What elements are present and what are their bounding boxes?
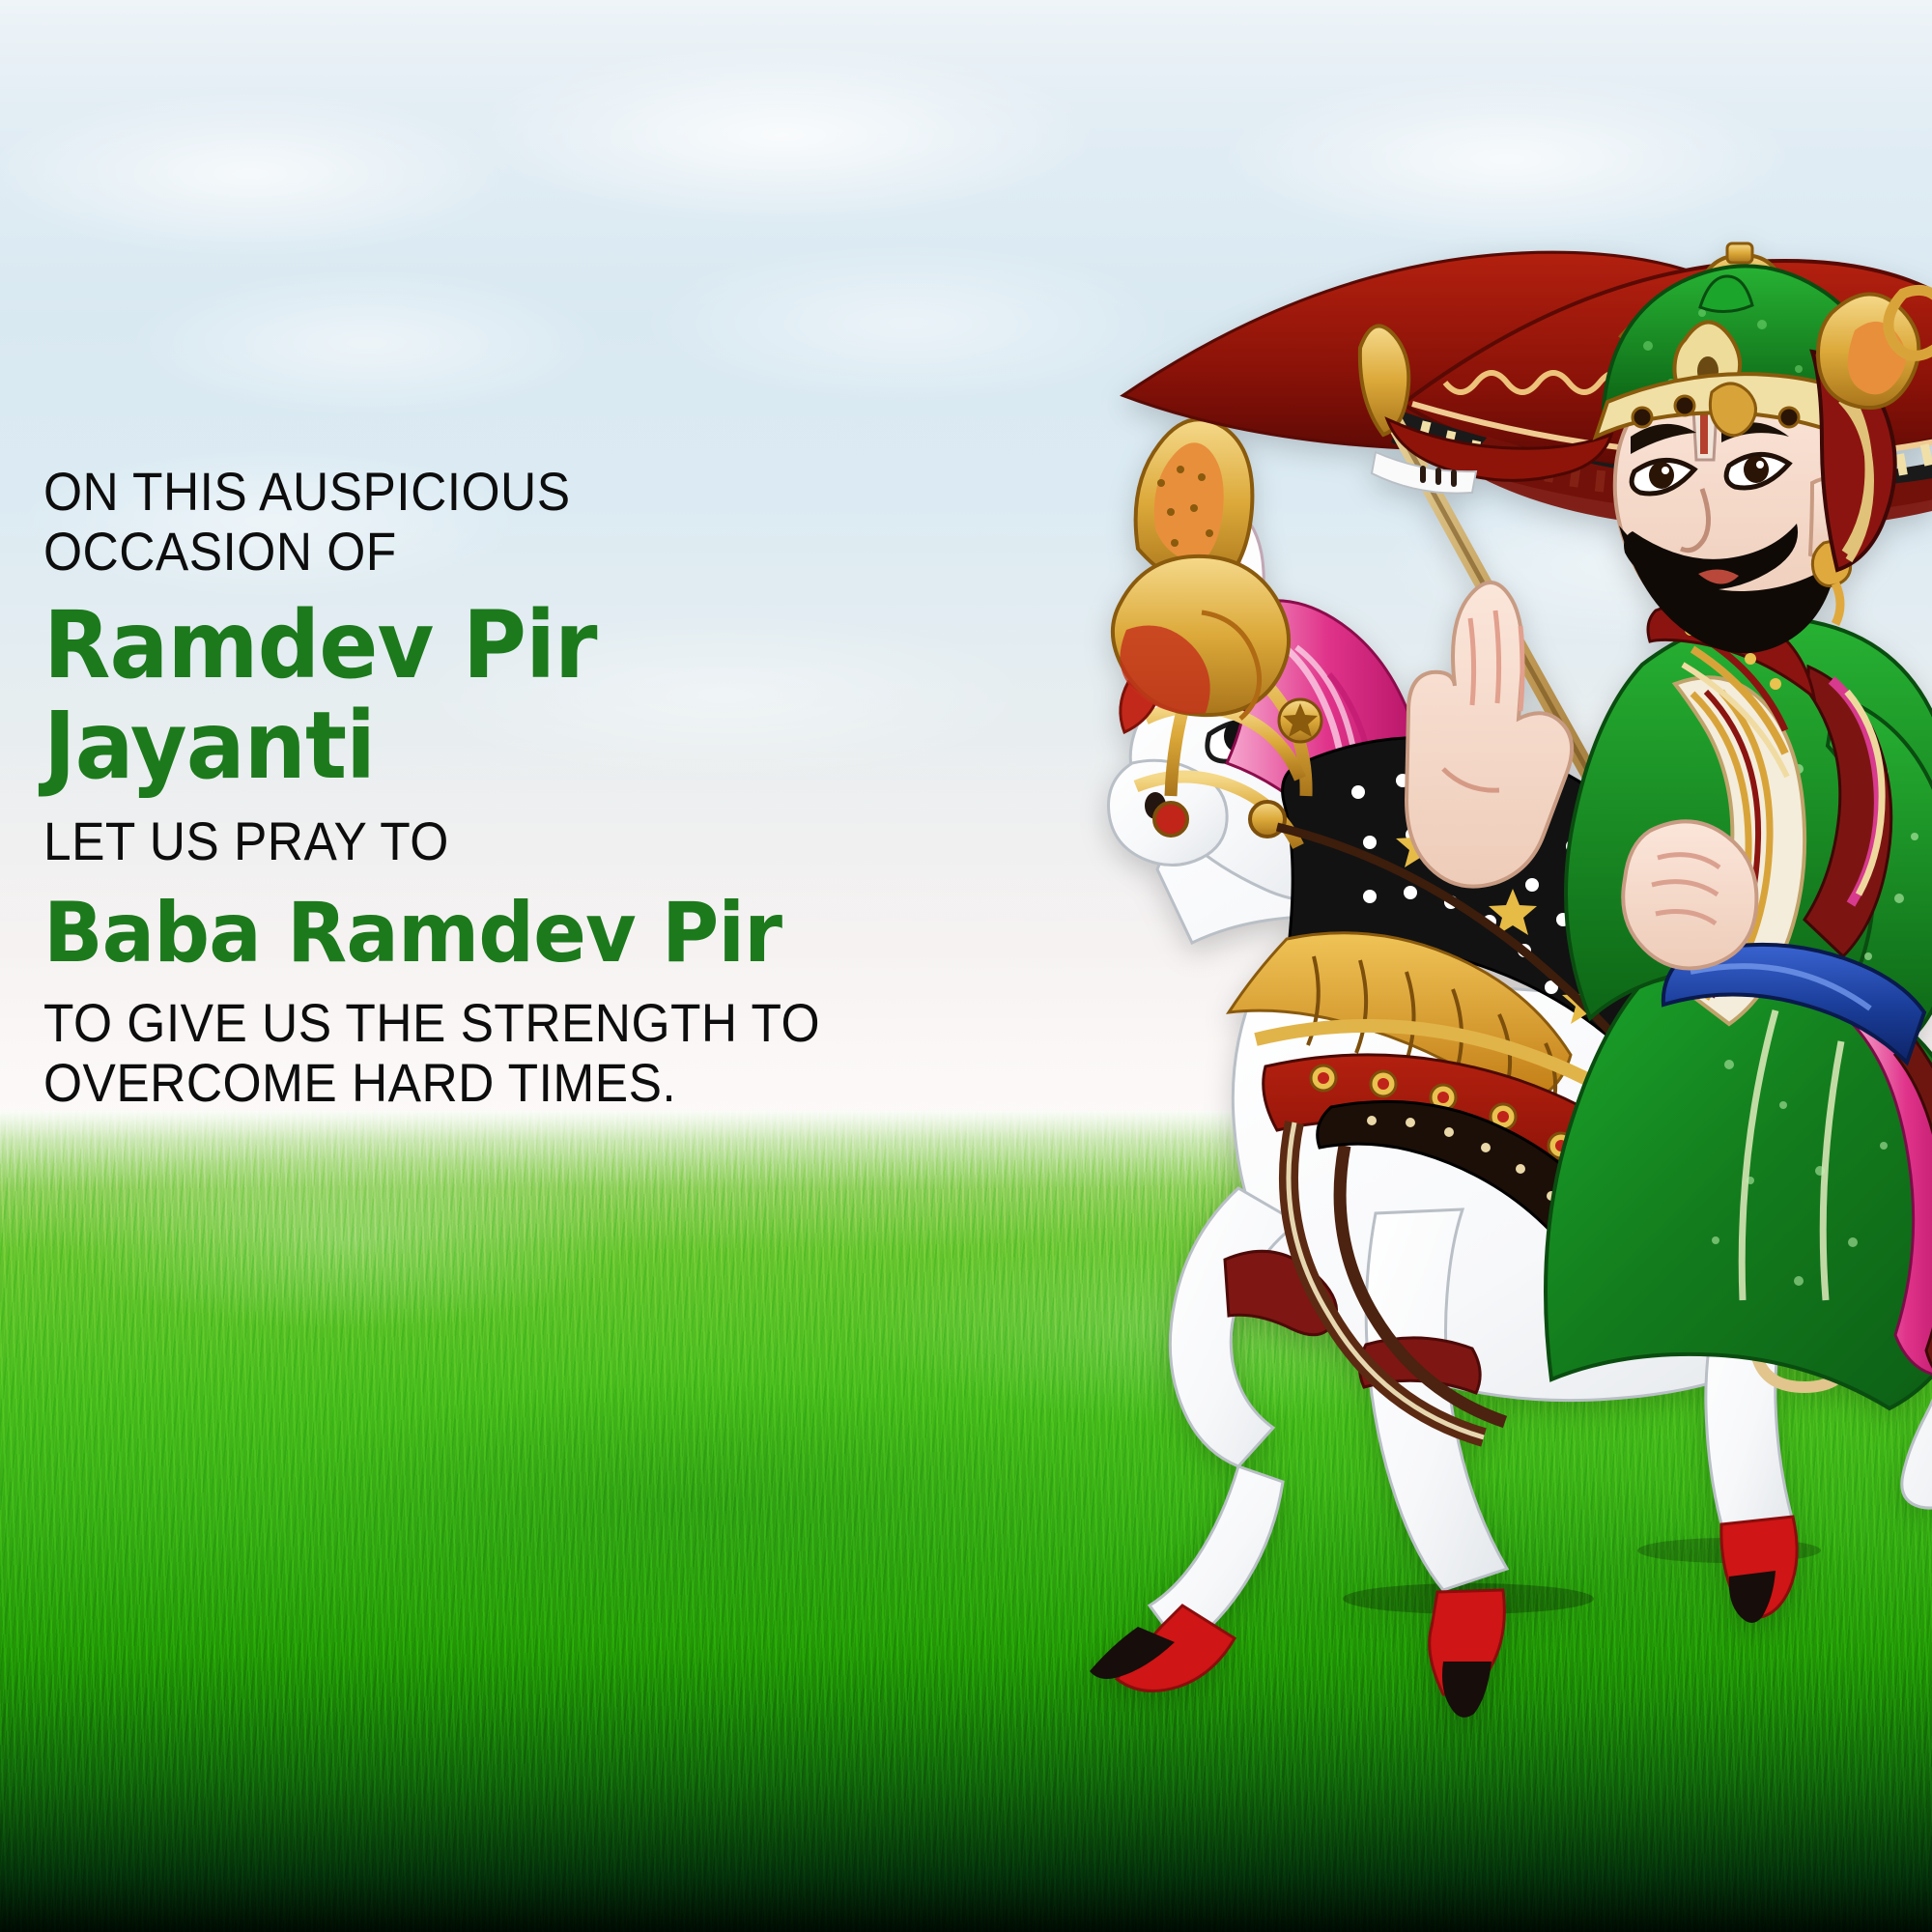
heading-baba-ramdev-pir: Baba Ramdev Pir: [43, 885, 879, 981]
poster-canvas: ON THIS AUSPICIOUS OCCASION OF Ramdev Pi…: [0, 0, 1932, 1932]
cloud-shape: [39, 241, 696, 444]
greeting-text-block: ON THIS AUSPICIOUS OCCASION OF Ramdev Pi…: [43, 462, 932, 1113]
message-line-4: TO GIVE US THE STRENGTH TO: [43, 993, 861, 1053]
cloud-shape: [0, 58, 618, 290]
staff-gripping-hand: [1623, 821, 1756, 968]
message-line-3: LET US PRAY TO: [43, 811, 861, 871]
message-line-5: OVERCOME HARD TIMES.: [43, 1053, 861, 1113]
baba-ramdev-pir-illustration: [966, 193, 1932, 1739]
message-line-1: ON THIS AUSPICIOUS: [43, 462, 861, 522]
bridle-boss: [1154, 803, 1187, 836]
heading-jayanti: Jayanti: [43, 696, 879, 796]
message-line-2: OCCASION OF: [43, 522, 861, 582]
heading-ramdev-pir: Ramdev Pir: [43, 595, 879, 696]
